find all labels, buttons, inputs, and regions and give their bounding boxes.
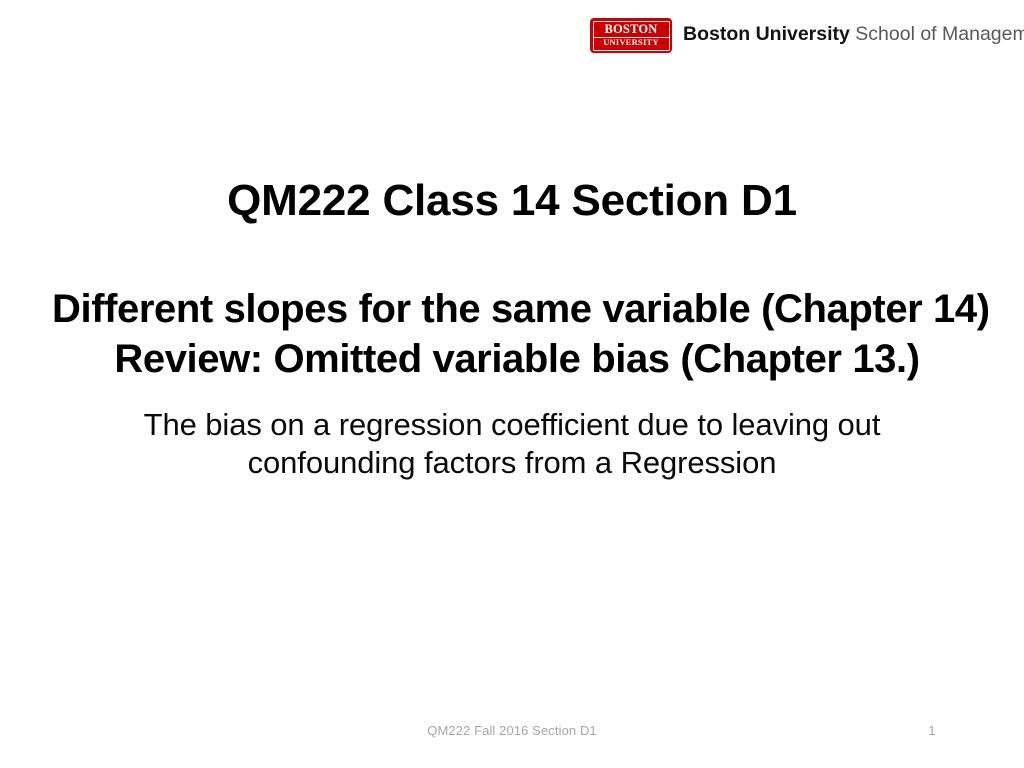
body-text-container: The bias on a regression coefficient due… [112,406,912,483]
logo-inner-frame: BOSTON UNIVERSITY [593,21,670,51]
logo-boston-text: BOSTON [594,22,669,37]
brand-wordmark: Boston University School of Management [683,25,1024,47]
presentation-slide: BOSTON UNIVERSITY Boston University Scho… [0,0,1024,768]
body-line-2: confounding factors from a Regression [112,444,912,482]
slide-title: QM222 Class 14 Section D1 [52,176,972,225]
brand-institution-name: Boston University [683,23,850,45]
subtitle-line-2: Review: Omitted variable bias (Chapter 1… [52,335,982,385]
logo-university-text: UNIVERSITY [594,38,669,50]
bu-branding-header: BOSTON UNIVERSITY Boston University Scho… [590,18,1024,53]
subtitle-container: Different slopes for the same variable (… [52,285,982,384]
slide-number: 1 [912,723,952,738]
title-container: QM222 Class 14 Section D1 [52,176,972,225]
body-line-1: The bias on a regression coefficient due… [112,406,912,444]
boston-university-shield-logo: BOSTON UNIVERSITY [590,18,672,53]
subtitle-line-1: Different slopes for the same variable (… [52,285,982,335]
slide-footer-text: QM222 Fall 2016 Section D1 [0,723,1024,738]
brand-unit-name: School of Management [855,23,1024,45]
